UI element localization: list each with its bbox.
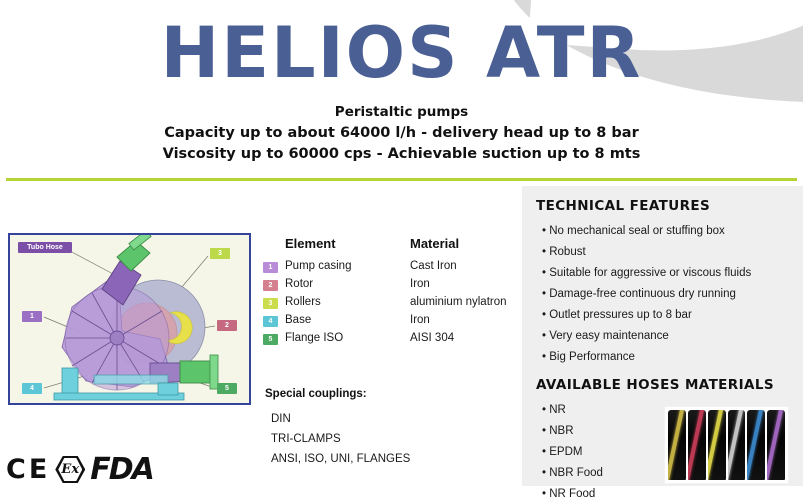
hose-sample-1 bbox=[668, 410, 686, 480]
row-badge: 5 bbox=[263, 334, 278, 345]
row-material: Iron bbox=[410, 314, 513, 326]
row-element: Base bbox=[285, 314, 410, 326]
hose-material-item: NBR Food bbox=[536, 463, 664, 484]
feature-item: Robust bbox=[536, 242, 789, 263]
diagram-callout-1: 1 bbox=[22, 311, 42, 322]
table-header-spacer bbox=[263, 236, 285, 251]
technical-features-panel: TECHNICAL FEATURES No mechanical seal or… bbox=[522, 186, 803, 486]
table-header-element: Element bbox=[285, 236, 410, 251]
special-couplings-section: Special couplings: DIN TRI-CLAMPS ANSI, … bbox=[265, 388, 410, 469]
feature-item: No mechanical seal or stuffing box bbox=[536, 221, 789, 242]
available-hoses-title: AVAILABLE HOSES MATERIALS bbox=[536, 377, 789, 393]
subtitle-product-type: Peristaltic pumps bbox=[0, 102, 803, 123]
certification-logos: CE Ex FDA bbox=[6, 452, 153, 487]
row-element: Flange ISO bbox=[285, 332, 410, 344]
table-row: 2 Rotor Iron bbox=[263, 275, 513, 293]
fda-mark-icon: FDA bbox=[90, 452, 153, 487]
table-row: 3 Rollers aluminium nylatron bbox=[263, 293, 513, 311]
row-badge: 4 bbox=[263, 316, 278, 327]
row-badge: 2 bbox=[263, 280, 278, 291]
table-row: 1 Pump casing Cast Iron bbox=[263, 257, 513, 275]
atex-label: Ex bbox=[61, 462, 79, 477]
diagram-callout-5: 5 bbox=[217, 383, 237, 394]
header-divider-rule bbox=[6, 178, 797, 181]
coupling-item: ANSI, ISO, UNI, FLANGES bbox=[265, 449, 410, 469]
hose-sample-6 bbox=[767, 410, 785, 480]
atex-ex-mark-icon: Ex bbox=[55, 456, 85, 483]
ce-mark-icon: CE bbox=[6, 454, 50, 485]
subtitle-viscosity: Viscosity up to 60000 cps - Achievable s… bbox=[0, 144, 803, 165]
technical-features-title: TECHNICAL FEATURES bbox=[536, 198, 789, 214]
page-title: HELIOS ATR bbox=[0, 0, 803, 92]
table-header-material: Material bbox=[410, 236, 513, 251]
table-row: 5 Flange ISO AISI 304 bbox=[263, 329, 513, 347]
table-header-row: Element Material bbox=[263, 236, 513, 257]
row-material: Cast Iron bbox=[410, 260, 513, 272]
subtitle-capacity: Capacity up to about 64000 l/h - deliver… bbox=[0, 123, 803, 144]
diagram-label-tubo-hose: Tubo Hose bbox=[18, 242, 72, 253]
hose-material-item: EPDM bbox=[536, 442, 664, 463]
feature-item: Outlet pressures up to 8 bar bbox=[536, 305, 789, 326]
hose-material-item: NBR bbox=[536, 421, 664, 442]
feature-item: Big Performance bbox=[536, 347, 789, 368]
hose-sample-3 bbox=[708, 410, 726, 480]
header-subtitles: Peristaltic pumps Capacity up to about 6… bbox=[0, 102, 803, 165]
row-badge-cell: 3 bbox=[263, 296, 285, 309]
row-material: Iron bbox=[410, 278, 513, 290]
row-badge-cell: 4 bbox=[263, 314, 285, 327]
element-material-table: Element Material 1 Pump casing Cast Iron… bbox=[263, 236, 513, 347]
row-material: aluminium nylatron bbox=[410, 296, 513, 308]
diagram-callout-3: 3 bbox=[210, 248, 230, 259]
hoses-content-row: NR NBR EPDM NBR Food NR Food bbox=[536, 400, 789, 500]
row-badge: 1 bbox=[263, 262, 278, 273]
feature-item: Damage-free continuous dry running bbox=[536, 284, 789, 305]
hoses-list: NR NBR EPDM NBR Food NR Food bbox=[536, 400, 664, 500]
hose-sample-5 bbox=[747, 410, 765, 480]
row-badge-cell: 1 bbox=[263, 260, 285, 273]
hose-material-item: NR Food bbox=[536, 484, 664, 500]
row-element: Rotor bbox=[285, 278, 410, 290]
diagram-callout-2: 2 bbox=[217, 320, 237, 331]
table-row: 4 Base Iron bbox=[263, 311, 513, 329]
pump-diagram-drawing bbox=[10, 235, 249, 403]
coupling-item: TRI-CLAMPS bbox=[265, 429, 410, 449]
pump-diagram: Tubo Hose 1 2 3 4 5 bbox=[8, 233, 251, 405]
row-element: Pump casing bbox=[285, 260, 410, 272]
hose-sample-2 bbox=[688, 410, 706, 480]
row-badge-cell: 5 bbox=[263, 332, 285, 345]
page-root: HELIOS ATR Peristaltic pumps Capacity up… bbox=[0, 0, 803, 500]
header: HELIOS ATR Peristaltic pumps Capacity up… bbox=[0, 0, 803, 165]
hose-samples-photo bbox=[664, 406, 789, 484]
feature-item: Very easy maintenance bbox=[536, 326, 789, 347]
row-element: Rollers bbox=[285, 296, 410, 308]
feature-item: Suitable for aggressive or viscous fluid… bbox=[536, 263, 789, 284]
diagram-callout-4: 4 bbox=[22, 383, 42, 394]
hose-sample-4 bbox=[728, 410, 746, 480]
couplings-title: Special couplings: bbox=[265, 388, 410, 400]
row-badge: 3 bbox=[263, 298, 278, 309]
row-badge-cell: 2 bbox=[263, 278, 285, 291]
row-material: AISI 304 bbox=[410, 332, 513, 344]
coupling-item: DIN bbox=[265, 409, 410, 429]
hose-material-item: NR bbox=[536, 400, 664, 421]
